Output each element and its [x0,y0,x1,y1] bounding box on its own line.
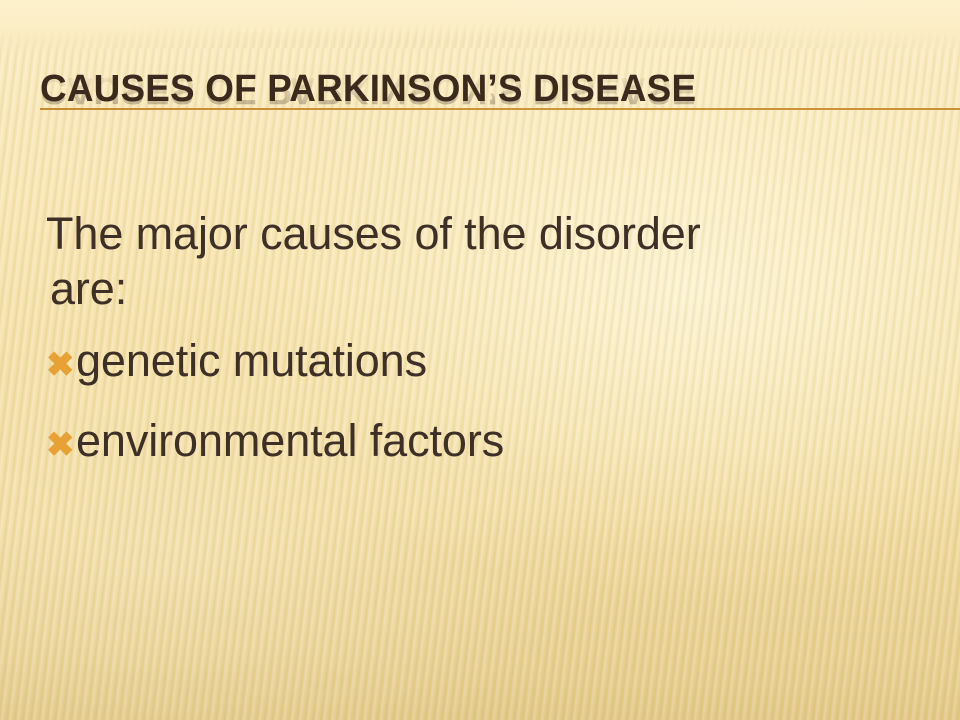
title-underline-rule [40,108,960,110]
lead-paragraph-line-2: are: [46,261,946,316]
list-item: ✖ genetic mutations [46,334,946,392]
list-item-label: genetic mutations [76,334,946,387]
causes-bullet-list: ✖ genetic mutations ✖ environmental fact… [46,334,946,472]
title-block: Causes of Parkinson’s Disease Causes of … [40,68,940,140]
list-item-label: environmental factors [76,414,946,467]
presentation-slide: Causes of Parkinson’s Disease Causes of … [0,0,960,720]
cross-bullet-icon: ✖ [46,339,76,392]
lead-paragraph: The major causes of the disorder are: [46,206,946,316]
slide-body: The major causes of the disorder are: ✖ … [46,206,946,494]
cross-bullet-icon: ✖ [46,419,76,472]
list-item: ✖ environmental factors [46,414,946,472]
slide-title: Causes of Parkinson’s Disease [40,68,696,110]
lead-paragraph-line-1: The major causes of the disorder [46,208,701,259]
